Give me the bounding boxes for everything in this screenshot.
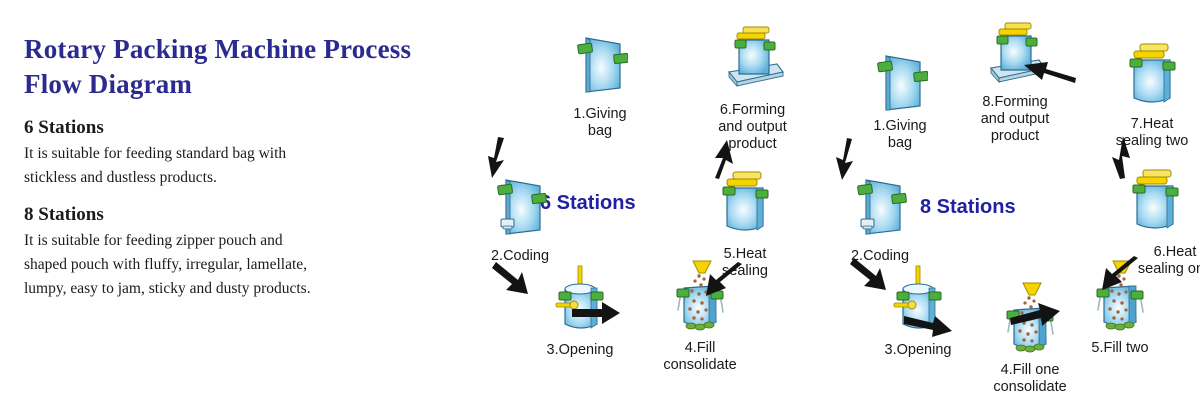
section-heading: 8 Stations: [24, 204, 424, 226]
flat-bag-icon: [572, 30, 628, 101]
arrow-down-right-icon: [492, 258, 536, 302]
step-label: 1.Giving bag: [570, 106, 630, 140]
arrow-right-icon: [902, 310, 954, 340]
heat-seal-bag-icon: [1122, 40, 1182, 115]
arrow-up-right-icon: [1098, 256, 1142, 300]
diagram-8-stations: 8 Stations 1.Giving bag: [810, 0, 1200, 410]
step-label: 8.Forming and output product: [973, 94, 1058, 145]
section-body: It is suitable for feeding standard bag …: [24, 142, 424, 190]
page-title: Rotary Packing Machine Process Flow Diag…: [24, 32, 424, 101]
coding-bag-icon: [852, 172, 908, 243]
arrow-up-icon: [1100, 136, 1136, 182]
step-node[interactable]: 4.Fill consolidate: [630, 258, 770, 370]
description-panel: Rotary Packing Machine Process Flow Diag…: [24, 32, 424, 301]
arrow-left-icon: [1022, 56, 1078, 86]
flat-bag-icon: [872, 48, 928, 119]
section-body: It is suitable for feeding zipper pouch …: [24, 229, 424, 301]
step-label: 3.Opening: [547, 342, 614, 359]
step-node[interactable]: 1.Giving bag: [540, 30, 660, 140]
arrow-down-left-icon: [480, 136, 520, 180]
coding-bag-icon: [492, 172, 548, 243]
section-heading: 6 Stations: [24, 117, 424, 139]
step-label: 5.Fill two: [1091, 340, 1148, 357]
arrow-down-icon: [832, 138, 866, 182]
section-6-stations: 6 Stations It is suitable for feeding st…: [24, 117, 424, 190]
diagram-6-stations: 6 Stations 1.Giving bag: [430, 0, 800, 410]
arrow-right-icon: [570, 300, 622, 326]
arrow-right-icon: [1008, 300, 1062, 330]
step-label: 4.Fill consolidate: [663, 340, 736, 374]
step-label: 3.Opening: [885, 342, 952, 359]
step-label: 1.Giving bag: [870, 118, 930, 152]
forming-output-icon: [717, 24, 789, 101]
flow-diagram-page: Rotary Packing Machine Process Flow Diag…: [0, 0, 1200, 410]
arrow-down-right-icon: [850, 254, 894, 298]
section-8-stations: 8 Stations It is suitable for feeding zi…: [24, 204, 424, 301]
step-node[interactable]: 7.Heat sealing two: [1072, 40, 1200, 150]
arrow-up-right-icon: [705, 138, 745, 184]
arrow-up-right-icon: [702, 262, 746, 306]
